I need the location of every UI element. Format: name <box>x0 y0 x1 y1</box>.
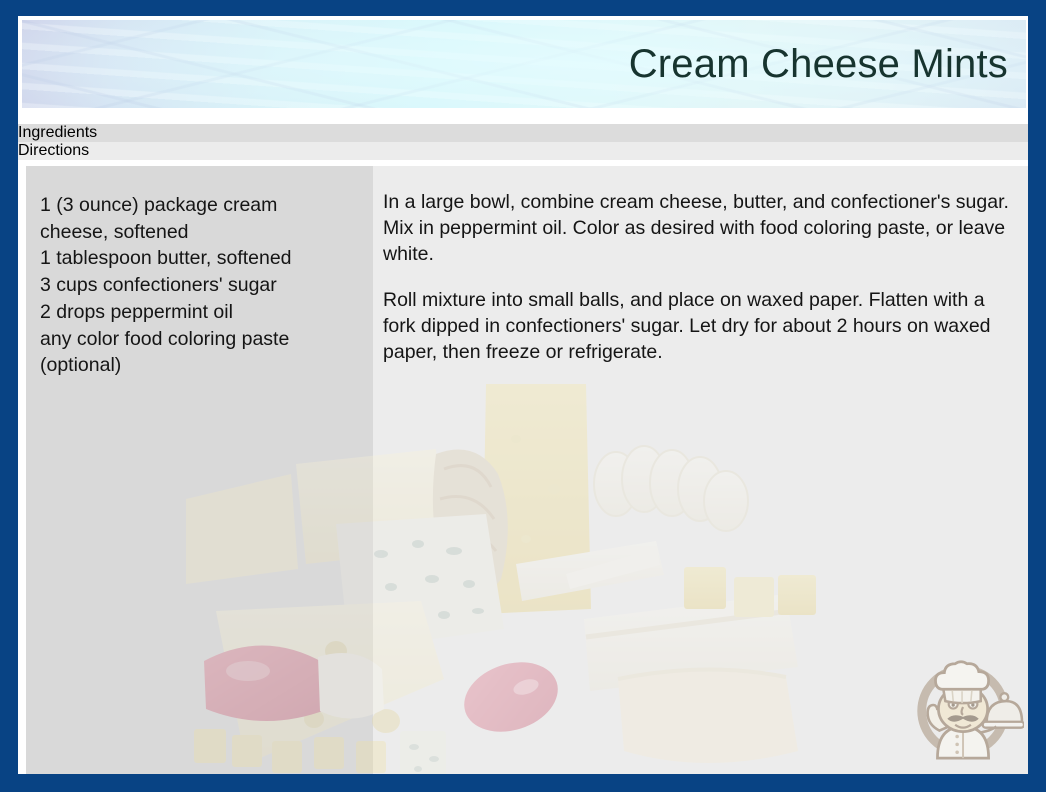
list-item: cheese, softened <box>40 219 359 246</box>
direction-paragraph: In a large bowl, combine cream cheese, b… <box>383 190 1010 268</box>
list-item: 1 (3 ounce) package cream <box>40 192 359 219</box>
ingredients-panel: 1 (3 ounce) package cream cheese, soften… <box>26 166 373 774</box>
directions-heading: Directions <box>18 142 1028 160</box>
ingredients-heading: Ingredients <box>18 124 1028 142</box>
card-inner-frame: Cream Cheese Mints In a large bowl, comb… <box>18 16 1028 774</box>
list-item: any color food coloring paste <box>40 326 359 353</box>
page-title: Cream Cheese Mints <box>629 43 1008 85</box>
list-item: (optional) <box>40 352 359 379</box>
recipe-card: Cream Cheese Mints In a large bowl, comb… <box>0 0 1046 792</box>
list-item: 1 tablespoon butter, softened <box>40 245 359 272</box>
directions-body: In a large bowl, combine cream cheese, b… <box>369 166 1028 366</box>
chef-logo <box>906 648 1024 766</box>
list-item: 3 cups confectioners' sugar <box>40 272 359 299</box>
content-panels: In a large bowl, combine cream cheese, b… <box>18 124 1028 774</box>
header-banner: Cream Cheese Mints <box>22 20 1026 108</box>
list-item: 2 drops peppermint oil <box>40 299 359 326</box>
direction-paragraph: Roll mixture into small balls, and place… <box>383 288 1010 366</box>
ingredients-list: 1 (3 ounce) package cream cheese, soften… <box>26 166 373 379</box>
